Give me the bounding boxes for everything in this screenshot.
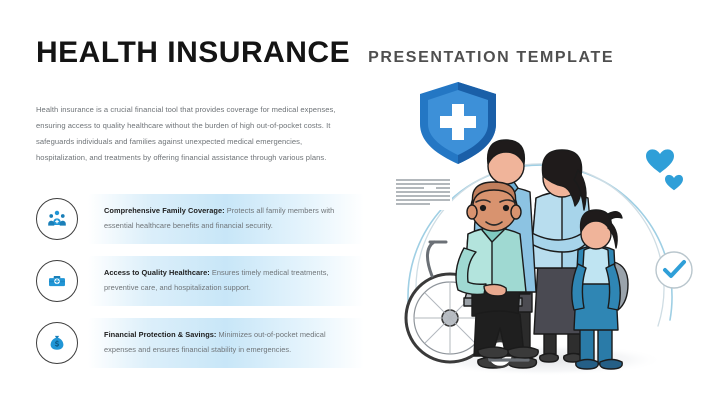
shield-with-cross-icon (420, 82, 496, 164)
family-figures (406, 140, 628, 369)
list-item: Financial Protection & Savings: Minimize… (30, 312, 350, 374)
list-item-text: Comprehensive Family Coverage: Protects … (104, 204, 336, 234)
list-item-heading: Access to Quality Healthcare: (104, 268, 210, 277)
title-main: HEALTH INSURANCE (36, 38, 350, 68)
document-lines-icon (394, 176, 452, 210)
heart-icon (646, 149, 683, 190)
check-circle-icon (656, 252, 692, 288)
list-item: Comprehensive Family Coverage: Protects … (30, 188, 350, 250)
list-item: Access to Quality Healthcare: Ensures ti… (30, 250, 350, 312)
medical-bag-icon (36, 260, 78, 302)
title-subtitle: PRESENTATION TEMPLATE (368, 50, 614, 66)
intro-paragraph: Health insurance is a crucial financial … (36, 102, 341, 166)
family-group-icon (36, 198, 78, 240)
money-bag-icon (36, 322, 78, 364)
feature-list: Comprehensive Family Coverage: Protects … (30, 188, 350, 374)
family-healthcare-illustration (372, 74, 708, 394)
slide-root: HEALTH INSURANCE PRESENTATION TEMPLATE H… (0, 0, 720, 404)
list-item-heading: Comprehensive Family Coverage: (104, 206, 225, 215)
page-title: HEALTH INSURANCE PRESENTATION TEMPLATE (36, 38, 614, 68)
list-item-text: Financial Protection & Savings: Minimize… (104, 328, 336, 358)
list-item-heading: Financial Protection & Savings: (104, 330, 216, 339)
list-item-text: Access to Quality Healthcare: Ensures ti… (104, 266, 336, 296)
